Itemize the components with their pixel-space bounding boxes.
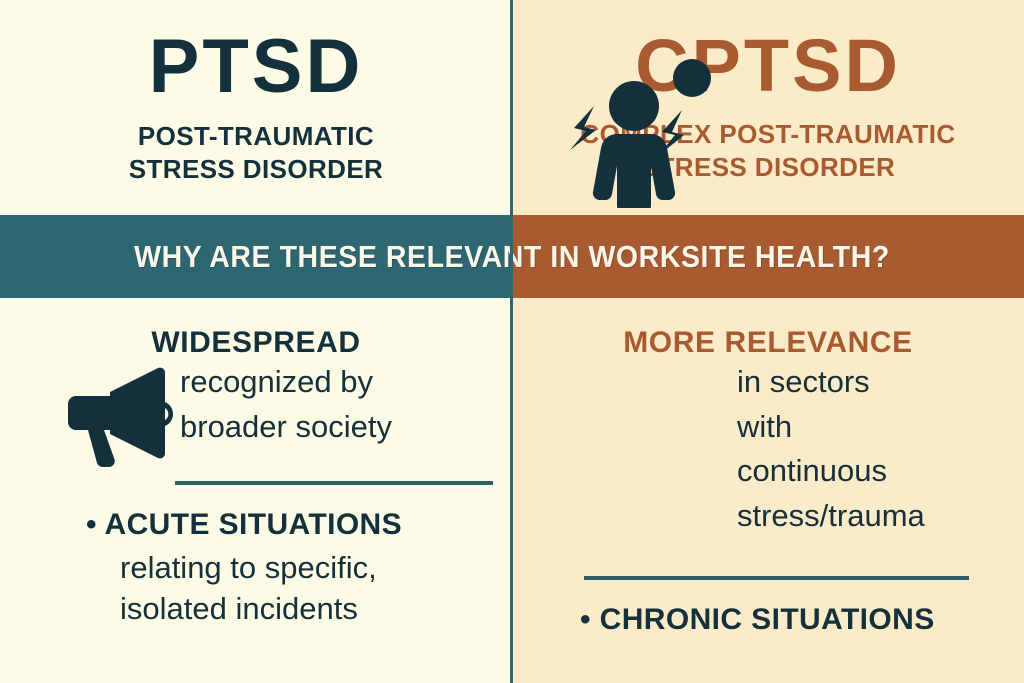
- left-divider-rule: [175, 481, 493, 485]
- left-bullet-heading: • ACUTE SITUATIONS: [86, 508, 402, 542]
- left-sub-text: relating to specific, isolated incidents: [120, 548, 480, 630]
- stressed-person-icon: [562, 58, 722, 208]
- right-body-line-4: stress/trauma: [737, 494, 1017, 539]
- left-expansion-line-1: POST-TRAUMATIC: [0, 120, 512, 153]
- left-acronym-expansion: POST-TRAUMATIC STRESS DISORDER: [0, 120, 512, 187]
- right-content-column: MORE RELEVANCE in sectors with continuou…: [512, 298, 1024, 683]
- left-content-column: WIDESPREAD recognized by broader society…: [0, 298, 512, 683]
- right-section-title: MORE RELEVANCE: [512, 326, 1024, 360]
- left-body-line-1: recognized by: [180, 360, 510, 405]
- left-sub-line-1: relating to specific,: [120, 548, 480, 589]
- megaphone-icon: [62, 360, 187, 470]
- right-body-text: in sectors with continuous stress/trauma: [737, 360, 1017, 539]
- left-expansion-line-2: STRESS DISORDER: [0, 153, 512, 186]
- right-body-line-2: with: [737, 405, 1017, 450]
- right-divider-rule: [584, 576, 969, 580]
- center-divider-rule: [510, 0, 513, 683]
- left-body-line-2: broader society: [180, 405, 510, 450]
- left-sub-line-2: isolated incidents: [120, 589, 480, 630]
- ptsd-cptsd-comparison-infographic: PTSD POST-TRAUMATIC STRESS DISORDER CPTS…: [0, 0, 1024, 683]
- right-body-line-3: continuous: [737, 449, 1017, 494]
- left-acronym-title: PTSD: [0, 26, 512, 108]
- left-body-text: recognized by broader society: [180, 360, 510, 449]
- right-body-line-1: in sectors: [737, 360, 1017, 405]
- left-header: PTSD POST-TRAUMATIC STRESS DISORDER: [0, 0, 512, 215]
- left-section-title: WIDESPREAD: [0, 326, 512, 360]
- right-bullet-heading: • CHRONIC SITUATIONS: [580, 603, 935, 637]
